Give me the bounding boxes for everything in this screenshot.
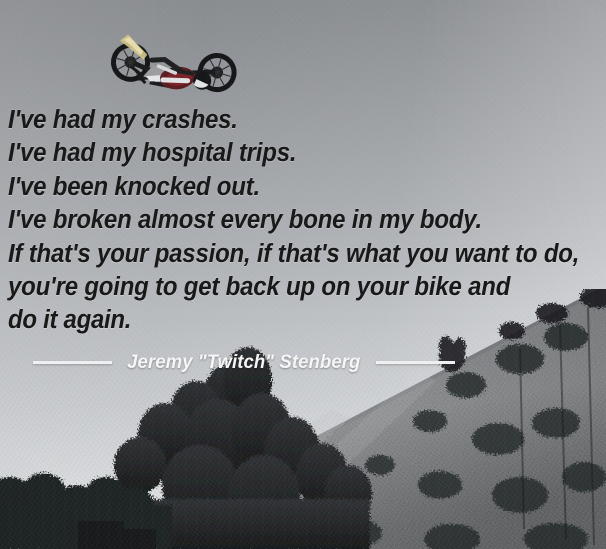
quote-line-5: If that's your passion, if that's what y… <box>8 238 564 271</box>
quote-line-4: I've broken almost every bone in my body… <box>8 204 564 237</box>
quote-line-7-emphasis: do it again <box>8 306 125 334</box>
motocross-rider-icon <box>106 26 238 114</box>
attribution-name: Jeremy "Twitch" Stenberg <box>127 352 360 372</box>
quote-text: I've had my crashes. I've had my hospita… <box>0 104 606 338</box>
quote-line-7-period: . <box>125 306 131 334</box>
quote-poster: I've had my crashes. I've had my hospita… <box>0 0 606 549</box>
attribution: Jeremy "Twitch" Stenberg <box>0 352 480 372</box>
quote-line-3: I've been knocked out. <box>8 171 564 204</box>
quote-line-6: you're going to get back up on your bike… <box>8 271 564 304</box>
quote-line-2: I've had my hospital trips. <box>8 137 564 170</box>
attribution-rule-left <box>33 361 112 364</box>
quote-line-7: do it again. <box>8 304 564 337</box>
attribution-rule-right <box>376 361 455 364</box>
quote-line-1: I've had my crashes. <box>8 104 564 137</box>
